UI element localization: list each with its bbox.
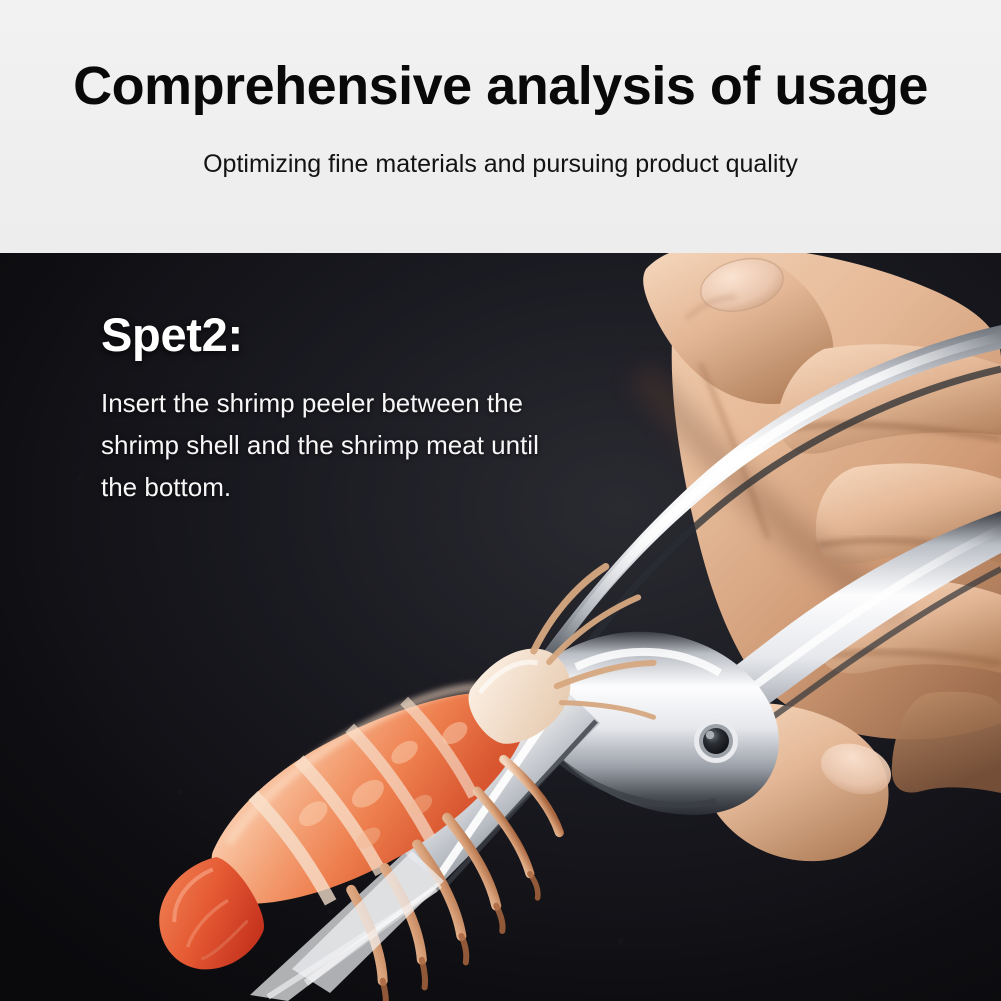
- step-heading: Spet2:: [101, 309, 601, 362]
- step-text-block: Spet2: Insert the shrimp peeler between …: [101, 309, 601, 508]
- step-body-line-3: the bottom.: [101, 466, 601, 508]
- product-photo-panel: Spet2: Insert the shrimp peeler between …: [0, 253, 1001, 1001]
- infographic-page: Comprehensive analysis of usage Optimizi…: [0, 0, 1001, 1001]
- header-band: Comprehensive analysis of usage Optimizi…: [0, 0, 1001, 253]
- page-subtitle: Optimizing fine materials and pursuing p…: [0, 149, 1001, 179]
- step-body: Insert the shrimp peeler between the shr…: [101, 382, 601, 508]
- step-body-line-2: shrimp shell and the shrimp meat until: [101, 424, 601, 466]
- page-title: Comprehensive analysis of usage: [0, 58, 1001, 115]
- step-body-line-1: Insert the shrimp peeler between the: [101, 382, 601, 424]
